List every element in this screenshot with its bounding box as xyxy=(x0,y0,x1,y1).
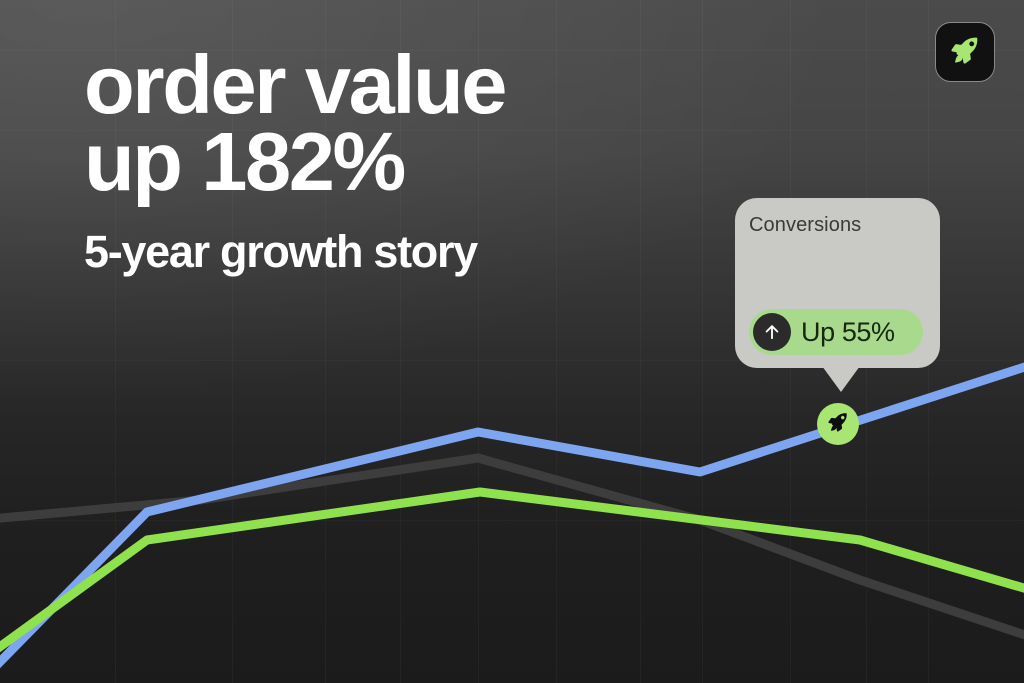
status-badge-label: Up 55% xyxy=(801,317,895,348)
rocket-icon xyxy=(948,33,982,72)
tooltip-title: Conversions xyxy=(749,214,861,237)
headline-block: order value up 182% 5-year growth story xyxy=(84,46,724,276)
chart-line-conversions xyxy=(0,492,1024,654)
data-point-marker[interactable] xyxy=(817,403,859,445)
rocket-icon xyxy=(826,410,850,439)
tooltip-tail xyxy=(822,366,860,392)
promo-chart-canvas: order value up 182% 5-year growth story … xyxy=(0,0,1024,683)
status-badge[interactable]: Up 55% xyxy=(749,309,923,355)
arrow-up-icon xyxy=(753,313,791,351)
brand-badge[interactable] xyxy=(935,22,995,82)
page-title: order value up 182% xyxy=(84,46,724,200)
chart-line-sessions xyxy=(0,458,1024,638)
page-subtitle: 5-year growth story xyxy=(84,200,724,275)
chart-line-order-value xyxy=(0,364,1024,672)
